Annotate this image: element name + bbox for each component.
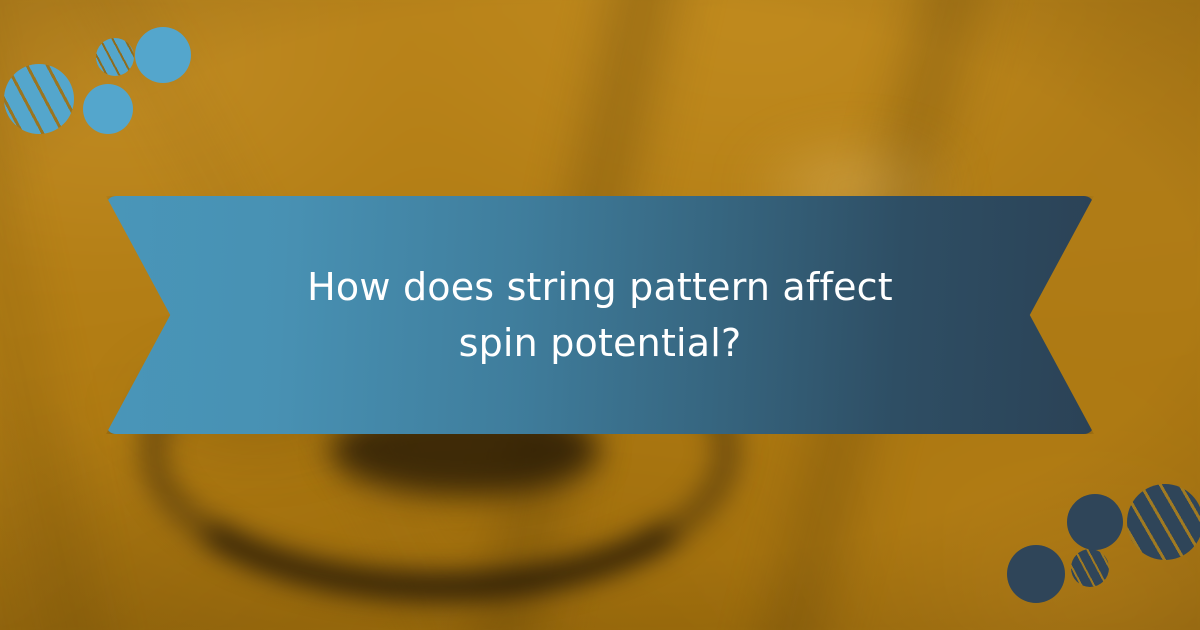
circle-striped-large-icon	[1127, 484, 1200, 560]
circle-plain-large-icon	[135, 27, 191, 83]
circle-striped-small-icon	[96, 38, 134, 76]
social-card-canvas: How does string pattern affect spin pote…	[0, 0, 1200, 630]
circle-striped-small-icon	[1071, 549, 1109, 587]
circle-plain-medium-icon	[83, 84, 133, 134]
circle-plain-large-icon	[1067, 494, 1123, 550]
page-title: How does string pattern affect spin pote…	[270, 259, 930, 371]
circle-striped-large-icon	[4, 64, 74, 134]
circle-plain-medium-icon	[1007, 545, 1065, 603]
banner-text-wrap: How does string pattern affect spin pote…	[106, 196, 1094, 434]
